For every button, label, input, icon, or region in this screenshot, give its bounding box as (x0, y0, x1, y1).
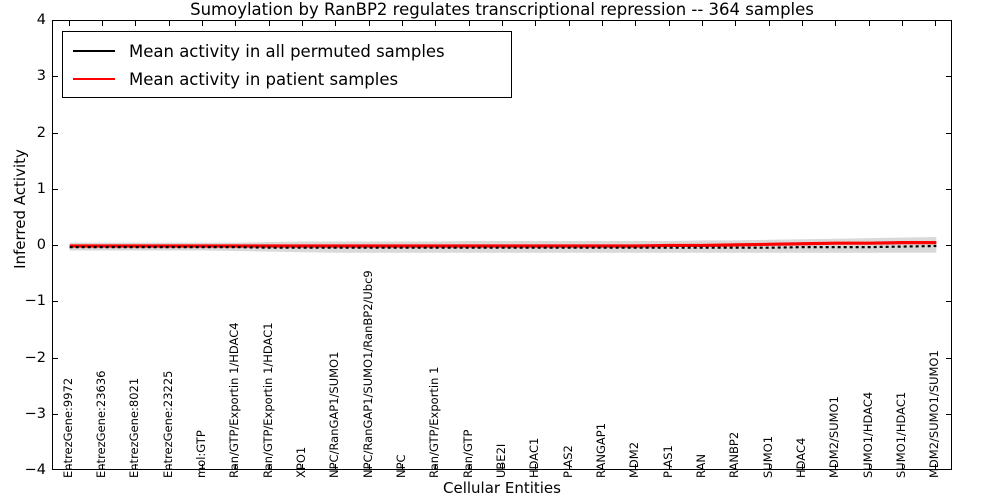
x-tick-label: EntrezGene:9972 (63, 378, 74, 478)
x-tick-label: SUMO1 (763, 436, 774, 478)
legend-line-icon (73, 50, 115, 52)
legend-item[interactable]: Mean activity in all permuted samples (63, 37, 511, 65)
x-tick-mark (169, 20, 170, 26)
x-tick-label: NPC/RanGAP1/SUMO1/RanBP2/Ubc9 (363, 270, 374, 478)
x-tick-label: EntrezGene:23225 (163, 371, 174, 478)
x-tick-label: RANBP2 (729, 432, 740, 478)
x-tick-mark (502, 20, 503, 26)
x-tick-label: Ran/GTP (463, 430, 474, 478)
x-tick-mark (202, 20, 203, 26)
legend-label: Mean activity in all permuted samples (129, 42, 445, 61)
y-tick-mark (52, 189, 58, 190)
y-tick-mark (52, 301, 58, 302)
x-tick-mark (869, 20, 870, 26)
x-tick-label: XPO1 (296, 447, 307, 478)
x-tick-label: UBE2I (496, 444, 507, 478)
legend-label: Mean activity in patient samples (129, 70, 398, 89)
x-tick-mark (402, 20, 403, 26)
x-tick-mark (535, 20, 536, 26)
x-tick-label: PIAS1 (663, 445, 674, 478)
x-tick-label: MDM2/SUMO1 (829, 396, 840, 478)
x-tick-mark (435, 20, 436, 26)
x-tick-mark (835, 20, 836, 26)
x-tick-label: PIAS2 (563, 445, 574, 478)
chart-figure: Sumoylation by RanBP2 regulates transcri… (0, 0, 1000, 500)
y-tick-mark (946, 358, 952, 359)
x-tick-label: SUMO1/HDAC1 (896, 392, 907, 478)
y-tick-mark (946, 301, 952, 302)
x-tick-label: mol:GTP (196, 430, 207, 478)
legend-item[interactable]: Mean activity in patient samples (63, 65, 511, 93)
y-tick-mark (946, 245, 952, 246)
y-tick-label: 1 (6, 182, 46, 196)
y-tick-label: −2 (6, 351, 46, 365)
chart-legend: Mean activity in all permuted samplesMea… (62, 31, 512, 98)
x-tick-mark (702, 20, 703, 26)
y-tick-label: −4 (6, 463, 46, 477)
y-tick-mark (946, 414, 952, 415)
x-tick-mark (669, 20, 670, 26)
x-tick-label: Ran/GTP/Exportin 1 (429, 367, 440, 478)
x-tick-mark (235, 20, 236, 26)
x-tick-mark (102, 20, 103, 26)
y-tick-label: 0 (6, 238, 46, 252)
x-tick-mark (69, 20, 70, 26)
y-tick-label: 3 (6, 69, 46, 83)
y-tick-mark (946, 76, 952, 77)
y-tick-mark (946, 133, 952, 134)
y-tick-mark (52, 358, 58, 359)
y-tick-label: −3 (6, 407, 46, 421)
x-tick-mark (935, 20, 936, 26)
x-tick-label: RANGAP1 (596, 423, 607, 478)
y-tick-mark (52, 414, 58, 415)
x-tick-mark (269, 20, 270, 26)
x-tick-mark (769, 20, 770, 26)
x-tick-label: Ran/GTP/Exportin 1/HDAC1 (263, 322, 274, 478)
x-tick-mark (335, 20, 336, 26)
x-tick-label: SUMO1/HDAC4 (863, 392, 874, 478)
legend-line-icon (73, 78, 115, 80)
x-tick-mark (569, 20, 570, 26)
y-tick-mark (52, 133, 58, 134)
x-tick-label: MDM2 (629, 442, 640, 478)
x-axis-label: Cellular Entities (52, 479, 952, 497)
x-tick-label: Ran/GTP/Exportin 1/HDAC4 (229, 322, 240, 478)
x-tick-mark (902, 20, 903, 26)
y-axis-tick-labels: 43210−1−2−3−4 (0, 20, 46, 470)
x-tick-mark (635, 20, 636, 26)
x-tick-label: NPC/RanGAP1/SUMO1 (329, 352, 340, 478)
y-tick-label: 2 (6, 126, 46, 140)
x-tick-label: HDAC1 (529, 438, 540, 478)
x-tick-label: NPC (396, 454, 407, 478)
x-tick-mark (302, 20, 303, 26)
x-axis-tick-labels: EntrezGene:9972EntrezGene:23636EntrezGen… (52, 470, 952, 478)
y-tick-mark (52, 245, 58, 246)
y-tick-mark (946, 189, 952, 190)
x-tick-mark (802, 20, 803, 26)
x-tick-label: RAN (696, 454, 707, 478)
x-tick-label: HDAC4 (796, 438, 807, 478)
x-tick-mark (602, 20, 603, 26)
x-tick-mark (469, 20, 470, 26)
x-tick-label: EntrezGene:23636 (96, 371, 107, 478)
chart-title: Sumoylation by RanBP2 regulates transcri… (52, 0, 952, 20)
y-tick-label: −1 (6, 294, 46, 308)
x-tick-label: EntrezGene:8021 (129, 378, 140, 478)
y-tick-mark (52, 76, 58, 77)
y-tick-label: 4 (6, 13, 46, 27)
x-tick-mark (735, 20, 736, 26)
x-tick-mark (135, 20, 136, 26)
x-tick-label: MDM2/SUMO1/SUMO1 (929, 350, 940, 478)
x-tick-mark (369, 20, 370, 26)
